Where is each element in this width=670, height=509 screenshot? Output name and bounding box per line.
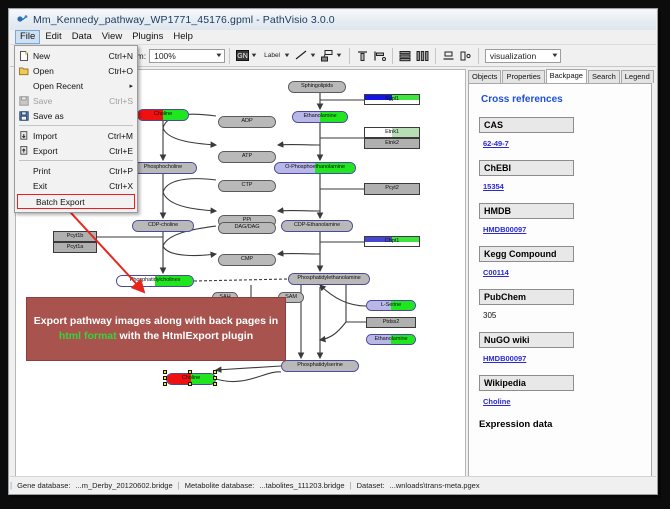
file-menu-item-open-recent[interactable]: Open Recent▸ xyxy=(15,78,137,93)
menu-file[interactable]: File xyxy=(15,30,40,44)
datanode-dropdown-icon[interactable]: ▼ xyxy=(250,53,258,59)
file-menu-dropdown[interactable]: NewCtrl+NOpenCtrl+OOpen Recent▸SaveCtrl+… xyxy=(14,45,138,213)
xref-database-name: Kegg Compound xyxy=(479,246,574,262)
node-label: O-Phosphoethanolamine xyxy=(285,165,345,171)
submenu-arrow-icon: ▸ xyxy=(129,82,133,90)
protein-node[interactable]: Pcyt1b xyxy=(53,231,97,242)
xref-link[interactable]: Choline xyxy=(483,397,511,406)
pathvisio-icon xyxy=(16,14,28,26)
file-menu-item-shortcut: Ctrl+M xyxy=(108,131,133,141)
chevron-down-icon: ▼ xyxy=(551,53,559,59)
selection-handle[interactable] xyxy=(188,382,192,386)
node-label: Etnk2 xyxy=(385,141,399,147)
file-menu-item-print[interactable]: PrintCtrl+P xyxy=(15,163,137,178)
zoom-value: 100% xyxy=(154,51,176,61)
tab-backpage[interactable]: Backpage xyxy=(546,69,587,83)
file-menu-item-label: Open Recent xyxy=(33,81,126,91)
stack-icon[interactable] xyxy=(398,48,413,63)
folder-open-icon xyxy=(19,66,33,76)
align-top-icon[interactable] xyxy=(355,48,370,63)
file-menu-item-exit[interactable]: ExitCtrl+X xyxy=(15,178,137,193)
node-label: ATP xyxy=(242,154,252,160)
file-menu-item-import[interactable]: ImportCtrl+M xyxy=(15,128,137,143)
file-menu-item-label: Print xyxy=(33,166,109,176)
node-label: L-Serine xyxy=(381,303,401,309)
node-label: Sphingolipids xyxy=(301,84,333,90)
tab-search[interactable]: Search xyxy=(588,70,620,83)
application-window: Mm_Kennedy_pathway_WP1771_45176.gpml - P… xyxy=(8,8,658,495)
node-label: Choline xyxy=(182,376,200,382)
import-icon xyxy=(19,131,33,141)
file-menu-item-new[interactable]: NewCtrl+N xyxy=(15,48,137,63)
node-label: Chpt1 xyxy=(385,239,399,245)
file-menu-item-label: Batch Export xyxy=(36,197,130,207)
metabolite-node[interactable]: Phosphatidylcholines xyxy=(116,275,194,287)
node-label: Pcyt1b xyxy=(67,234,84,240)
file-menu-item-shortcut: Ctrl+X xyxy=(109,181,133,191)
metabolite-node[interactable]: Sphingolipids xyxy=(288,81,346,93)
node-label: CDP-choline xyxy=(148,223,178,229)
file-menu-item-label: Open xyxy=(33,66,108,76)
node-label: Phosphatidylserine xyxy=(297,363,342,369)
save-as-icon xyxy=(19,111,33,121)
group-icon[interactable] xyxy=(441,48,456,63)
cross-reference-entry: HMDBHMDB00097 xyxy=(479,203,641,237)
selection-handle[interactable] xyxy=(213,376,217,380)
window-title: Mm_Kennedy_pathway_WP1771_45176.gpml - P… xyxy=(33,14,335,26)
menu-edit[interactable]: Edit xyxy=(40,30,66,44)
node-label: ADP xyxy=(241,119,252,125)
file-menu-item-export[interactable]: ExportCtrl+E xyxy=(15,143,137,158)
node-label: Ethanolamine xyxy=(303,114,336,120)
node-label: CTP xyxy=(242,183,253,189)
toolbar-separator-1 xyxy=(229,48,230,64)
file-menu-item-shortcut: Ctrl+P xyxy=(109,166,133,176)
protein-node[interactable]: Etnk1 xyxy=(364,127,420,138)
xref-database-name: ChEBI xyxy=(479,160,574,176)
new-document-icon xyxy=(19,51,33,61)
annotation-callout: Export pathway images along with back pa… xyxy=(26,297,286,361)
xref-link[interactable]: HMDB00097 xyxy=(483,354,526,363)
menu-view[interactable]: View xyxy=(97,30,127,44)
side-panel-tabs[interactable]: ObjectsPropertiesBackpageSearchLegend xyxy=(468,69,652,83)
file-menu-item-shortcut: Ctrl+S xyxy=(109,96,133,106)
metabolite-node[interactable]: Phosphatidylserine xyxy=(281,360,359,372)
svg-text:GN: GN xyxy=(237,53,248,60)
menu-plugins[interactable]: Plugins xyxy=(127,30,168,44)
line-dropdown-icon[interactable]: ▼ xyxy=(309,53,317,59)
selection-handle[interactable] xyxy=(163,382,167,386)
metabolite-node[interactable]: Phosphatidylethanolamine xyxy=(288,273,370,285)
toolbar-separator-4 xyxy=(435,48,436,64)
metabolite-node[interactable]: Phosphocholine xyxy=(129,162,197,174)
label-dropdown-icon[interactable]: ▼ xyxy=(283,53,291,59)
distribute-icon[interactable] xyxy=(415,48,430,63)
xref-link[interactable]: HMDB00097 xyxy=(483,225,526,234)
tab-legend[interactable]: Legend xyxy=(621,70,654,83)
node-label: SAM xyxy=(285,295,297,301)
metabolite-node[interactable]: Choline xyxy=(137,109,189,121)
visualization-combobox[interactable]: visualization ▼ xyxy=(485,49,561,63)
metabolite-node[interactable]: CDP-choline xyxy=(132,220,194,232)
node-label: Ptdss2 xyxy=(383,320,400,326)
title-bar: Mm_Kennedy_pathway_WP1771_45176.gpml - P… xyxy=(10,10,656,31)
order-icon[interactable] xyxy=(458,48,473,63)
protein-node[interactable]: Sgpl1 xyxy=(364,94,420,105)
node-label: Pcyt1a xyxy=(67,245,84,251)
node-label: Phosphocholine xyxy=(144,165,182,171)
shape-dropdown-icon[interactable]: ▼ xyxy=(335,53,343,59)
cross-reference-entry: PubChem305 xyxy=(479,289,641,323)
file-menu-item-shortcut: Ctrl+E xyxy=(109,146,133,156)
file-menu-item-label: Save xyxy=(33,96,109,106)
file-menu-item-label: New xyxy=(33,51,109,61)
gene-database-value: ...m_Derby_20120602.bridge xyxy=(75,481,177,490)
metabolite-node[interactable]: DAG/DAG xyxy=(218,222,276,234)
node-label: DAG/DAG xyxy=(234,225,259,231)
metabolite-node[interactable]: Ethanolamine xyxy=(292,111,348,123)
xref-database-name: Wikipedia xyxy=(479,375,574,391)
gene-database-label: Gene database: xyxy=(12,481,75,490)
node-label: Pcyt2 xyxy=(385,186,399,192)
selection-handle[interactable] xyxy=(163,376,167,380)
xref-database-name: PubChem xyxy=(479,289,574,305)
protein-node[interactable]: Etnk2 xyxy=(364,138,420,149)
metabolite-node[interactable]: CTP xyxy=(218,180,276,192)
shape-icon[interactable] xyxy=(320,48,335,63)
toolbar-separator-2 xyxy=(349,48,350,64)
metabolite-node[interactable]: Ethanolamine xyxy=(366,334,416,345)
node-label: Phosphatidylethanolamine xyxy=(297,276,360,282)
save-icon xyxy=(19,96,33,106)
file-menu-item-label: Export xyxy=(33,146,109,156)
metabolite-node[interactable]: O-Phosphoethanolamine xyxy=(274,162,356,174)
selection-handle[interactable] xyxy=(163,370,167,374)
node-label: Ethanolamine xyxy=(374,337,407,343)
menu-help[interactable]: Help xyxy=(168,30,198,44)
zoom-combobox[interactable]: 100% ▼ xyxy=(149,49,225,63)
file-menu-item-save-as[interactable]: Save as xyxy=(15,108,137,123)
file-menu-separator xyxy=(19,125,133,126)
cross-reference-entry: CAS62-49-7 xyxy=(479,117,641,151)
export-icon xyxy=(19,146,33,156)
callout-text-before: Export pathway images along with back pa… xyxy=(34,315,278,327)
file-menu-item-open[interactable]: OpenCtrl+O xyxy=(15,63,137,78)
selection-handle[interactable] xyxy=(188,370,192,374)
toolbar-separator-5 xyxy=(478,48,479,64)
xref-link[interactable]: 15354 xyxy=(483,182,504,191)
file-menu-item-shortcut: Ctrl+N xyxy=(109,51,133,61)
expression-data-title: Expression data xyxy=(479,419,641,430)
status-bar: | Gene database: ...m_Derby_20120602.bri… xyxy=(10,476,656,493)
metabolite-node[interactable]: CDP-Ethanolamine xyxy=(281,220,353,232)
cross-references-title: Cross references xyxy=(481,94,641,105)
protein-node[interactable]: Pcyt1a xyxy=(53,242,97,253)
xref-value: 305 xyxy=(483,311,496,320)
node-label: CMP xyxy=(241,257,253,263)
align-left-icon[interactable] xyxy=(372,48,387,63)
file-menu-item-label: Save as xyxy=(33,111,133,121)
protein-node[interactable]: Pcyt2 xyxy=(364,183,420,195)
chevron-down-icon: ▼ xyxy=(215,53,223,59)
xref-database-name: HMDB xyxy=(479,203,574,219)
callout-highlight: html format xyxy=(59,330,117,342)
selection-handle[interactable] xyxy=(213,370,217,374)
metabolite-database-value: ...tabolites_111203.bridge xyxy=(259,481,349,490)
file-menu-item-save: SaveCtrl+S xyxy=(15,93,137,108)
file-menu-item-shortcut: Ctrl+O xyxy=(108,66,133,76)
node-label: Etnk1 xyxy=(385,130,399,136)
protein-node[interactable]: Chpt1 xyxy=(364,236,420,247)
menu-bar[interactable]: File Edit Data View Plugins Help xyxy=(10,30,656,45)
tab-properties[interactable]: Properties xyxy=(502,70,544,83)
metabolite-node[interactable]: L-Serine xyxy=(366,300,416,311)
datanode-icon[interactable]: GN xyxy=(235,48,250,63)
dataset-label: Dataset: xyxy=(352,481,390,490)
cross-reference-entry: NuGO wikiHMDB00097 xyxy=(479,332,641,366)
side-panel: ObjectsPropertiesBackpageSearchLegend Cr… xyxy=(468,69,652,477)
xref-database-name: CAS xyxy=(479,117,574,133)
cross-reference-entry: Kegg CompoundC00114 xyxy=(479,246,641,280)
file-menu-item-label: Exit xyxy=(33,181,109,191)
file-menu-item-batch-export[interactable]: Batch Export xyxy=(17,194,135,209)
file-menu-item-label: Import xyxy=(33,131,108,141)
cross-reference-entry: ChEBI15354 xyxy=(479,160,641,194)
dataset-value: ...wnloads\trans-meta.pgex xyxy=(390,481,485,490)
callout-text-after: with the HtmlExport plugin xyxy=(117,330,254,342)
node-label: Choline xyxy=(154,112,172,118)
backpage-panel: Cross references CAS62-49-7ChEBI15354HMD… xyxy=(468,83,652,477)
metabolite-node[interactable]: ADP xyxy=(218,116,276,128)
label-icon[interactable]: Label xyxy=(261,48,283,63)
cross-reference-entry: WikipediaCholine xyxy=(479,375,641,409)
screenshot-root: Mm_Kennedy_pathway_WP1771_45176.gpml - P… xyxy=(0,0,670,509)
xref-link[interactable]: 62-49-7 xyxy=(483,139,509,148)
selection-handle[interactable] xyxy=(213,382,217,386)
metabolite-database-label: Metabolite database: xyxy=(180,481,260,490)
cross-reference-list: CAS62-49-7ChEBI15354HMDBHMDB00097Kegg Co… xyxy=(479,117,641,409)
node-label: Phosphatidylcholines xyxy=(130,278,181,284)
node-label: CDP-Ethanolamine xyxy=(294,223,340,229)
xref-database-name: NuGO wiki xyxy=(479,332,574,348)
line-icon[interactable] xyxy=(294,48,309,63)
menu-data[interactable]: Data xyxy=(67,30,97,44)
node-label: Sgpl1 xyxy=(385,97,399,103)
xref-link[interactable]: C00114 xyxy=(483,268,509,277)
toolbar-separator-3 xyxy=(392,48,393,64)
metabolite-node[interactable]: CMP xyxy=(218,254,276,266)
file-menu-separator xyxy=(19,160,133,161)
node-label: PPi xyxy=(243,218,251,224)
metabolite-node[interactable]: ATP xyxy=(218,151,276,163)
protein-node[interactable]: Ptdss2 xyxy=(366,317,416,328)
tab-objects[interactable]: Objects xyxy=(468,70,501,83)
visualization-value: visualization xyxy=(490,51,536,61)
